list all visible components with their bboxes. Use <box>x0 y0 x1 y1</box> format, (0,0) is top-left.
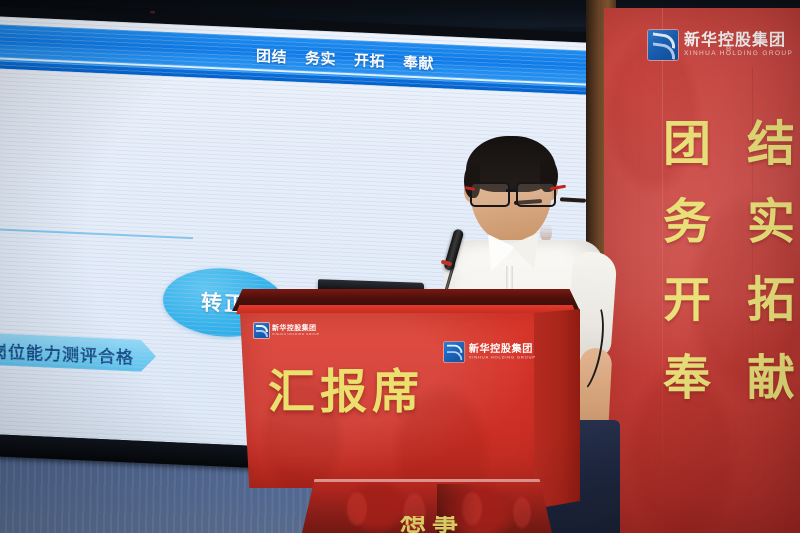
xinhua-logo-icon-medium <box>444 342 464 362</box>
bottom-partial-text-strip: 想事 <box>400 516 520 533</box>
banner-char-2: 结 <box>738 120 800 168</box>
banner-company-logo: 新华控股集团 XINHUA HOLDING GROUP ® <box>648 30 793 60</box>
podium-side-panel <box>534 309 580 509</box>
banner-char-1: 团 <box>654 120 720 168</box>
podium-logo-en: XINHUA HOLDING GROUP <box>272 333 320 336</box>
slogan-word-1: 团结 <box>256 47 287 66</box>
registered-mark-icon: ® <box>726 46 731 53</box>
podium-top-edge <box>236 305 576 314</box>
conference-photo-scene: 团结务实开拓奉献 转正 岗位能力测评合格 新华 <box>0 0 800 533</box>
podium-side-logo-cn: 新华控股集团 <box>469 344 536 354</box>
podium-side-logo-text: 新华控股集团 XINHUA HOLDING GROUP <box>469 344 536 360</box>
slide-connector-line <box>0 228 193 239</box>
podium-logo-cn: 新华控股集团 <box>272 325 320 332</box>
podium-side-logo-en: XINHUA HOLDING GROUP <box>469 356 536 360</box>
podium-side-company-logo: 新华控股集团 XINHUA HOLDING GROUP <box>444 342 536 362</box>
banner-char-8: 献 <box>738 354 800 402</box>
podium: 新华控股集团 XINHUA HOLDING GROUP 汇报席 新华控股集团 X… <box>232 289 580 533</box>
banner-logo-text: 新华控股集团 XINHUA HOLDING GROUP <box>684 32 793 58</box>
podium-logo-text: 新华控股集团 XINHUA HOLDING GROUP <box>272 325 320 336</box>
eyeglass-bridge <box>506 189 516 192</box>
slide-header-slogan: 团结务实开拓奉献 <box>256 45 452 75</box>
eyeglass-temple-left <box>465 186 475 191</box>
xinhua-logo-icon-small <box>254 323 269 338</box>
banner-logo-en: XINHUA HOLDING GROUP <box>684 51 793 58</box>
red-vertical-banner: 新华控股集团 XINHUA HOLDING GROUP ® 团 结 务 实 开 … <box>604 8 800 533</box>
banner-slogan-grid: 团 结 务 实 开 拓 奉 献 <box>654 120 800 402</box>
banner-char-4: 实 <box>738 198 800 246</box>
banner-char-3: 务 <box>654 198 720 246</box>
person-eyebrow-right <box>560 197 586 202</box>
banner-char-7: 奉 <box>654 354 720 402</box>
banner-char-5: 开 <box>654 276 720 324</box>
banner-char-6: 拓 <box>738 276 800 324</box>
slide-chevron-label: 岗位能力测评合格 <box>0 337 134 368</box>
podium-company-logo: 新华控股集团 XINHUA HOLDING GROUP <box>254 323 320 338</box>
xinhua-logo-icon <box>648 30 678 60</box>
podium-front-panel: 新华控股集团 XINHUA HOLDING GROUP 汇报席 <box>240 313 550 488</box>
banner-logo-cn: 新华控股集团 <box>684 32 793 48</box>
slogan-word-2: 务实 <box>305 49 336 68</box>
slogan-word-4: 奉献 <box>403 53 434 72</box>
slogan-word-3: 开拓 <box>354 51 385 70</box>
eyeglasses-icon <box>466 182 556 204</box>
slide-chevron-banner: 岗位能力测评合格 <box>0 332 156 372</box>
eyeglass-lens-left <box>470 182 510 207</box>
eyeglass-lens-right <box>516 182 556 207</box>
bottom-partial-text: 想事 <box>400 516 520 533</box>
podium-title-text: 汇报席 <box>268 353 424 422</box>
